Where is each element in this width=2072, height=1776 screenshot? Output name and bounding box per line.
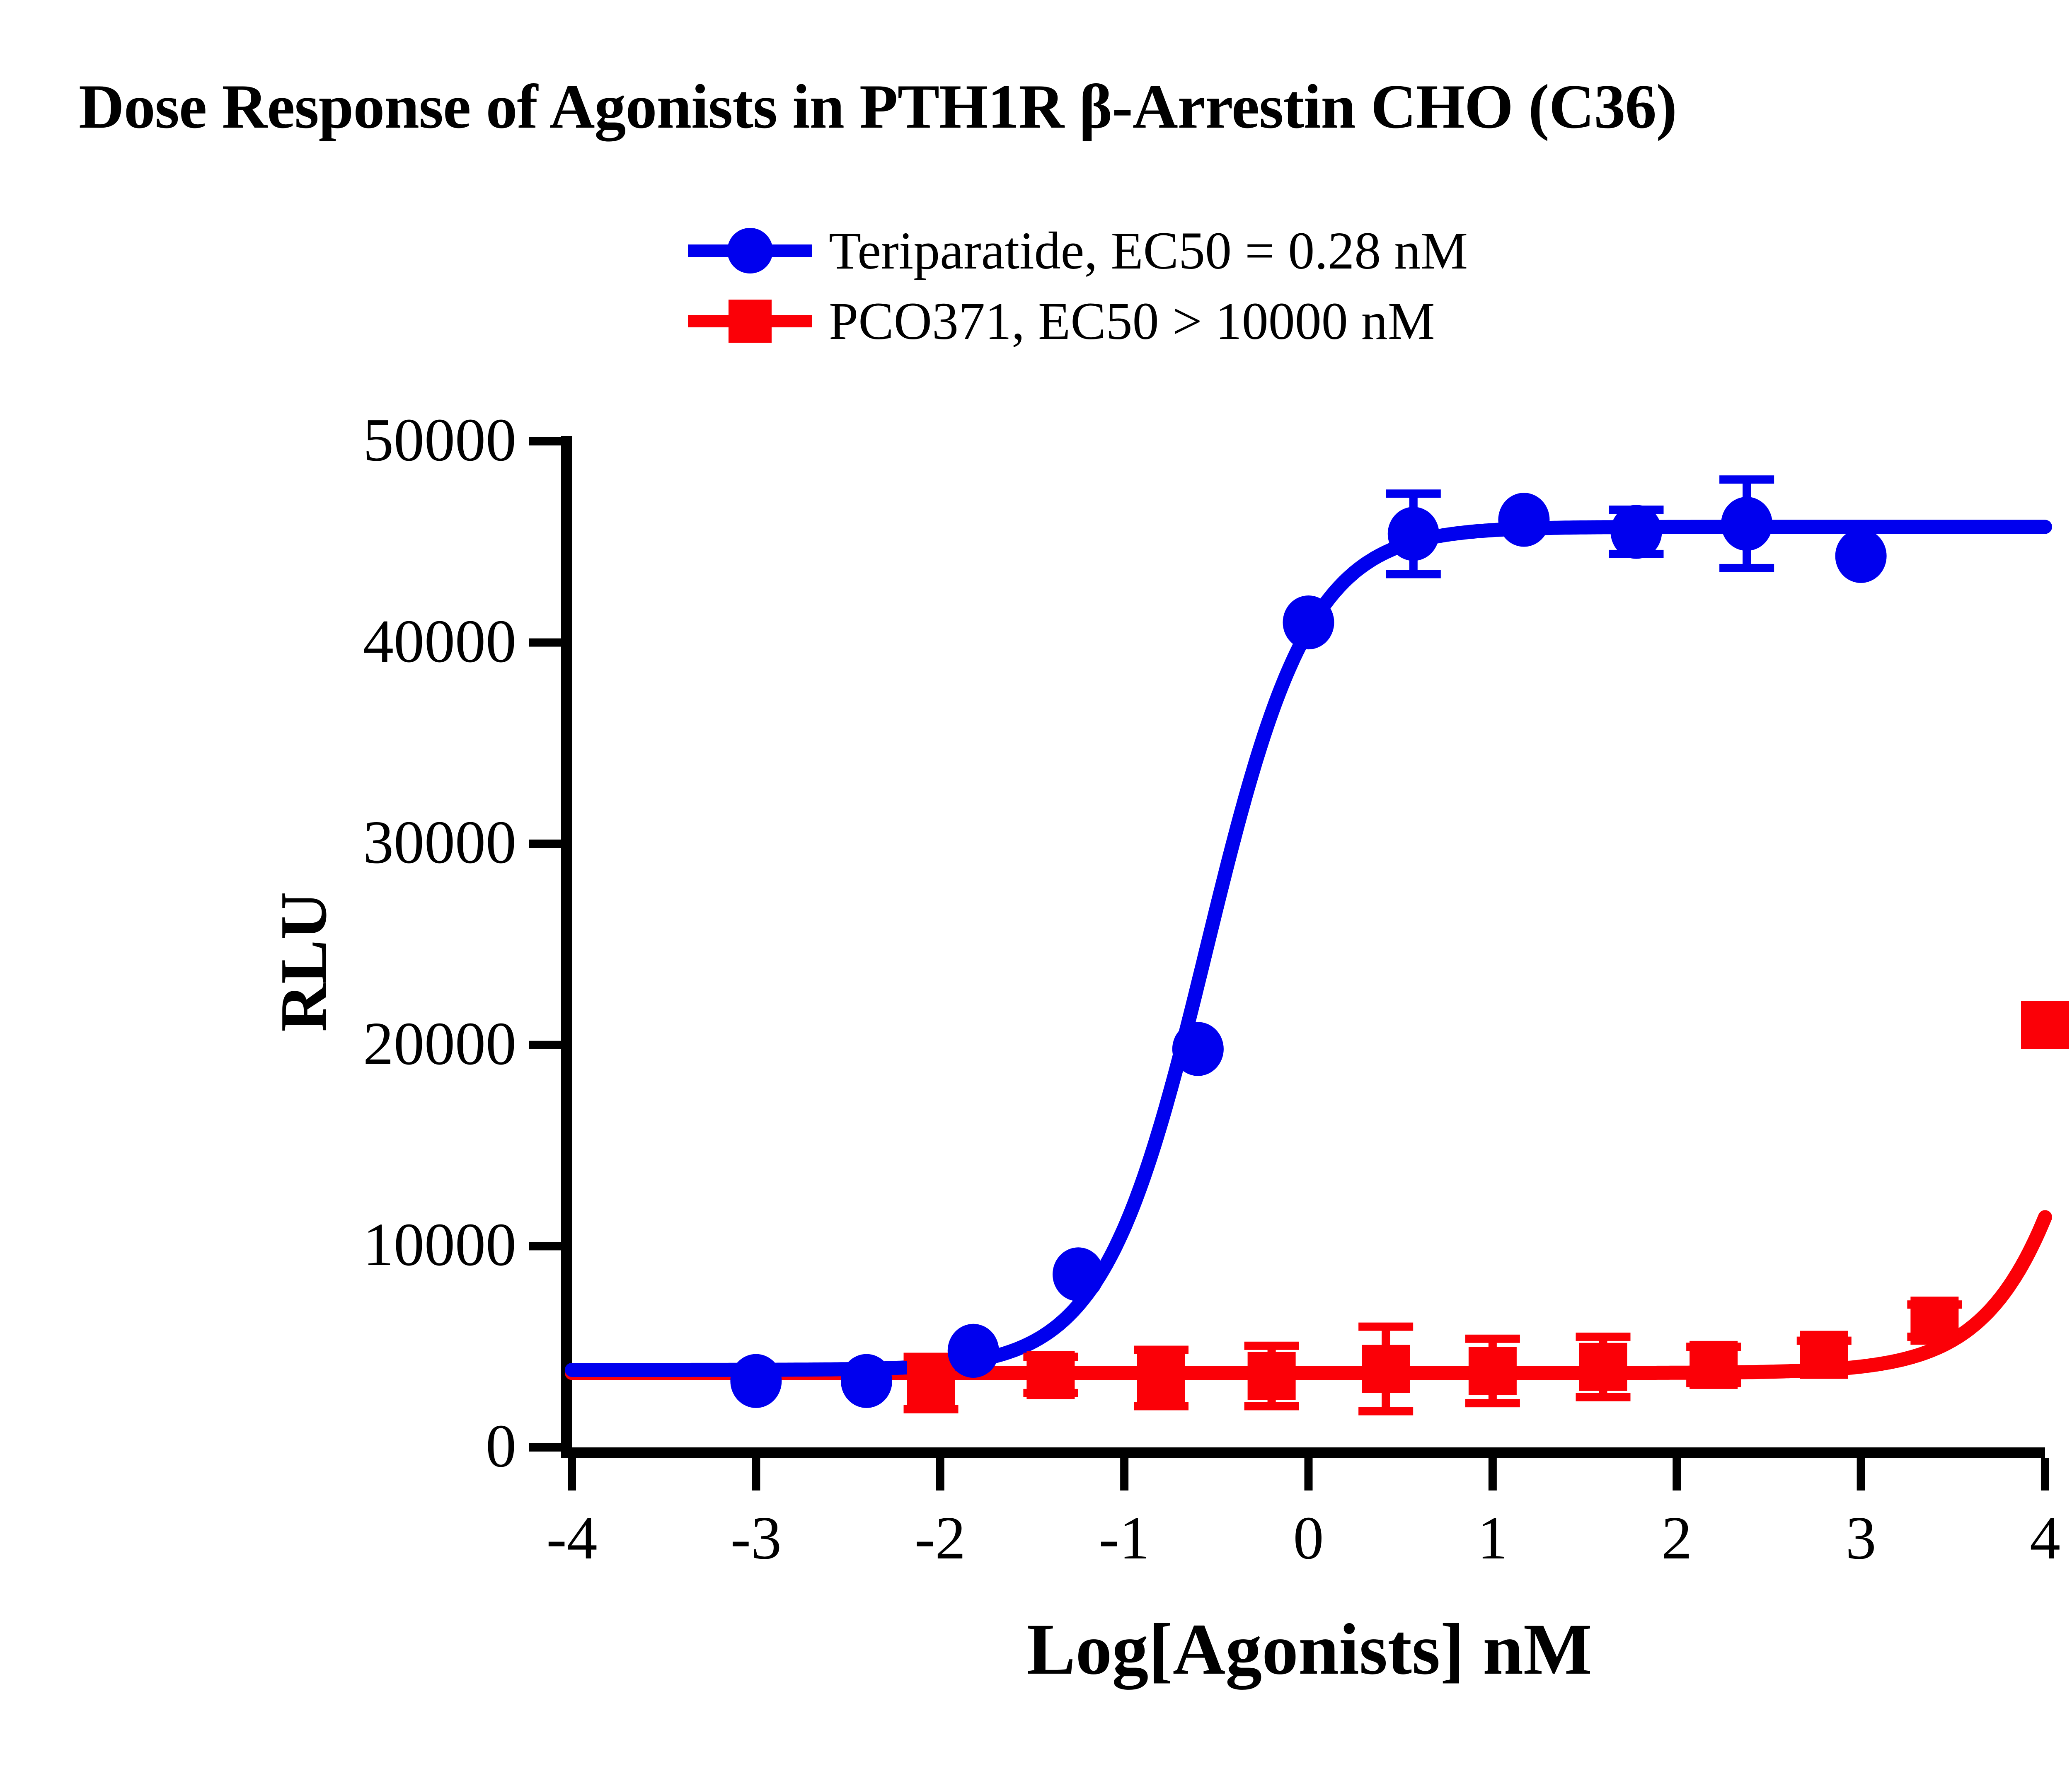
data-point: [1388, 507, 1439, 561]
data-point: [841, 1354, 892, 1408]
chart-figure: Dose Response of Agonists in PTH1R β-Arr…: [0, 0, 2072, 1776]
x-tick-label: 1: [1389, 1503, 1596, 1573]
data-point: [1469, 1347, 1517, 1395]
x-tick-label: 4: [1941, 1503, 2072, 1573]
data-point: [1283, 595, 1334, 649]
x-tick-label: 3: [1757, 1503, 1965, 1573]
data-point: [1910, 1297, 1958, 1345]
data-point: [1800, 1331, 1848, 1379]
y-tick-label: 20000: [143, 1009, 516, 1079]
y-tick-label: 10000: [143, 1210, 516, 1280]
data-point: [907, 1359, 955, 1407]
data-point: [1579, 1343, 1627, 1391]
fit-curve-teriparatide: [572, 527, 2045, 1370]
data-point: [1172, 1022, 1224, 1076]
data-point: [948, 1324, 999, 1378]
data-point: [1053, 1247, 1104, 1301]
y-tick-label: 0: [143, 1411, 516, 1481]
x-tick-label: -4: [468, 1503, 675, 1573]
data-point: [1721, 497, 1772, 551]
y-tick-label: 50000: [143, 405, 516, 475]
data-point: [1362, 1345, 1410, 1393]
x-tick-label: 0: [1205, 1503, 1412, 1573]
data-point: [1248, 1352, 1296, 1400]
x-tick-label: -3: [652, 1503, 859, 1573]
data-point: [1026, 1351, 1075, 1399]
data-point: [1137, 1354, 1185, 1402]
data-points-pco371: [904, 1001, 2069, 1415]
x-tick-label: 2: [1573, 1503, 1780, 1573]
data-points-teriparatide: [730, 475, 1886, 1408]
y-tick-label: 30000: [143, 807, 516, 878]
data-point: [1835, 529, 1887, 583]
data-point: [1610, 505, 1662, 559]
x-tick-label: -2: [837, 1503, 1044, 1573]
y-tick-label: 40000: [143, 606, 516, 677]
data-point: [1498, 493, 1549, 547]
data-point: [1690, 1341, 1738, 1389]
data-point: [730, 1354, 782, 1408]
data-point: [2021, 1001, 2069, 1049]
x-tick-label: -1: [1021, 1503, 1228, 1573]
